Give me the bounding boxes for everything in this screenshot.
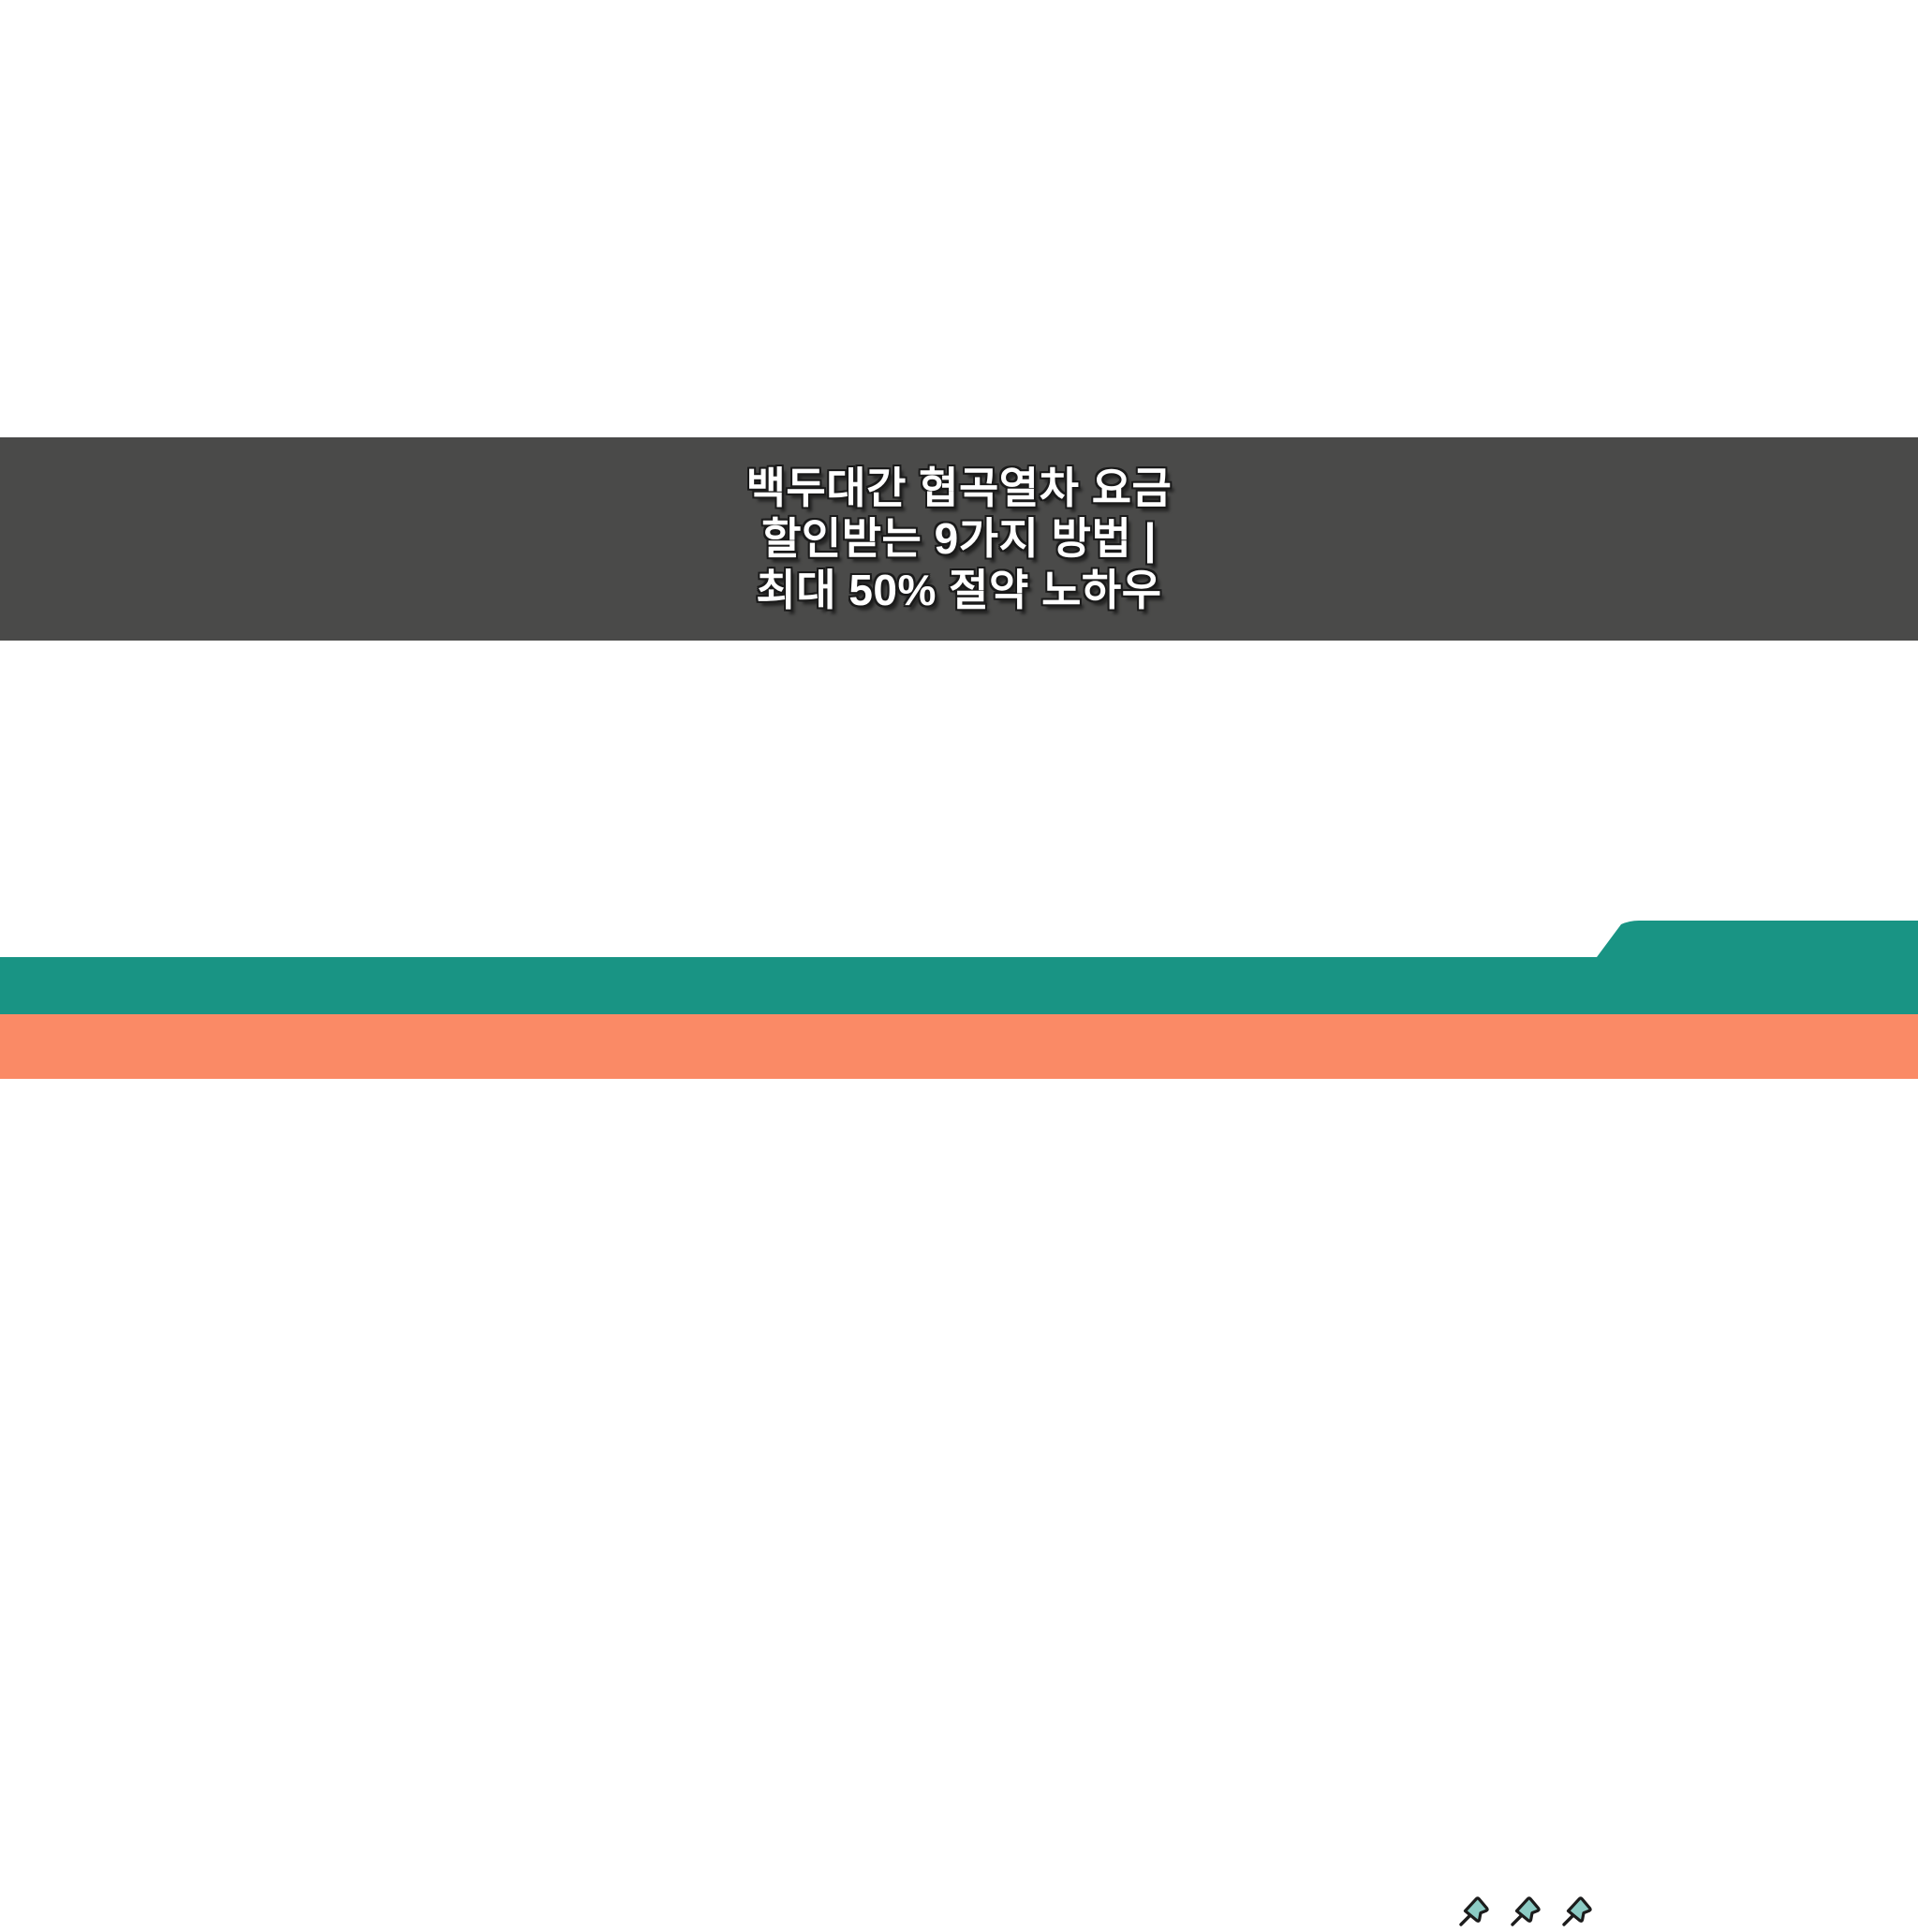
orange-accent-band [0, 1014, 1918, 1079]
title-line-2: 할인받는 9가지 방법 | [746, 513, 1173, 564]
page-title: 백두대간 협곡열차 요금 할인받는 9가지 방법 | 최대 50% 절약 노하우 [746, 463, 1173, 615]
teal-band-path [0, 921, 1918, 1014]
pushpin-icon-2 [1509, 1891, 1546, 1928]
pushpin-icon-1 [1457, 1891, 1495, 1928]
thumbnail-canvas: 백두대간 협곡열차 요금 할인받는 9가지 방법 | 최대 50% 절약 노하우 [0, 0, 1918, 1079]
title-line-1: 백두대간 협곡열차 요금 [746, 463, 1173, 513]
pushpin-icon-3 [1560, 1891, 1598, 1928]
title-band: 백두대간 협곡열차 요금 할인받는 9가지 방법 | 최대 50% 절약 노하우 [0, 437, 1918, 641]
teal-band-shape [0, 921, 1918, 1014]
bottom-decoration [0, 921, 1918, 1079]
title-line-3: 최대 50% 절약 노하우 [746, 565, 1173, 615]
teal-accent-band [0, 921, 1918, 1014]
pushpin-row [1457, 1887, 1618, 1932]
